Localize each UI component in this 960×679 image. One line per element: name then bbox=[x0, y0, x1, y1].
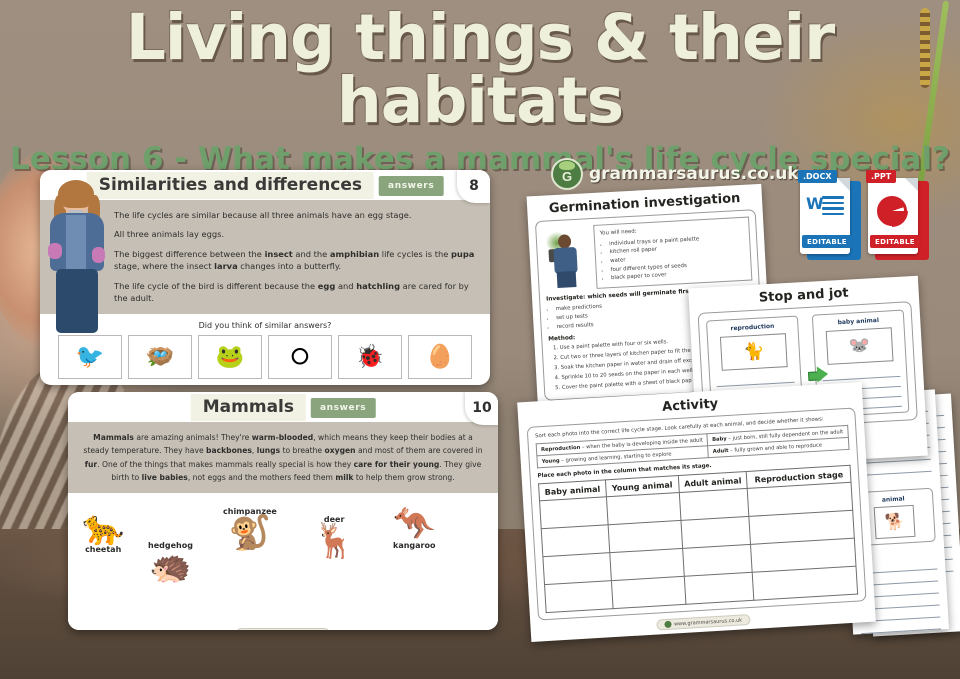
slide8-body-text: The life cycles are similar because all … bbox=[114, 209, 490, 305]
cell[interactable] bbox=[682, 544, 752, 576]
ppt-file-badge[interactable]: .PPT EDITABLE bbox=[866, 172, 929, 260]
ladybird-photo: 🐞 bbox=[338, 335, 402, 379]
bird-photo: 🐦 bbox=[58, 335, 122, 379]
nest-with-eggs-photo: 🪺 bbox=[128, 335, 192, 379]
page-fold-icon bbox=[905, 178, 918, 191]
term: Reproduction bbox=[541, 444, 581, 452]
animal-chimpanzee: chimpanzee 🐒 bbox=[223, 507, 277, 550]
ppt-extension-label: .PPT bbox=[866, 170, 896, 183]
grammarsaurus-badge-icon: G bbox=[551, 158, 583, 190]
cell[interactable] bbox=[611, 576, 685, 608]
slide10-answers-badge[interactable]: answers bbox=[311, 398, 375, 418]
slide8-photo-row: 🐦 🪺 🐸 ⭘ 🐞 🥚 bbox=[40, 335, 490, 379]
slide-mammals[interactable]: 10 Mammals answers Mammals are amazing a… bbox=[68, 392, 498, 630]
cheetah-label: cheetah bbox=[82, 545, 124, 554]
hedgehog-photo: 🦔 bbox=[148, 550, 193, 584]
pie-chart-icon bbox=[877, 196, 907, 226]
cell[interactable] bbox=[540, 497, 608, 529]
brand-dot-icon bbox=[664, 621, 671, 628]
cell[interactable] bbox=[545, 581, 613, 613]
frog-photo: 🐸 bbox=[198, 335, 262, 379]
cell[interactable] bbox=[606, 493, 680, 525]
kangaroo-photo: 🦘 bbox=[393, 507, 435, 541]
cell[interactable] bbox=[610, 548, 684, 580]
cell[interactable] bbox=[684, 572, 754, 604]
resource-preview: Living things & their habitats Lesson 6 … bbox=[0, 0, 960, 679]
slide10-body-text: Mammals are amazing animals! They're war… bbox=[68, 431, 498, 484]
slide8-paragraph: The life cycles are similar because all … bbox=[114, 209, 476, 221]
slide8-content-band: The life cycles are similar because all … bbox=[40, 200, 490, 314]
cell[interactable] bbox=[541, 525, 609, 557]
chimpanzee-photo: 🐒 bbox=[223, 516, 277, 550]
docx-extension-label: .DOCX bbox=[798, 170, 837, 183]
deer-photo: 🦌 bbox=[313, 524, 355, 558]
kangaroo-label: kangaroo bbox=[393, 541, 435, 550]
activity-footer-url: www.grammarsaurus.co.uk bbox=[656, 614, 751, 631]
animal-cheetah: 🐆 cheetah bbox=[82, 511, 124, 554]
slide-similarities-and-differences[interactable]: 8 Similarities and differences answers bbox=[40, 170, 490, 385]
animal-hedgehog: hedgehog 🦔 bbox=[148, 541, 193, 584]
frogspawn-photo: ⭘ bbox=[268, 335, 332, 379]
teacher-illustration bbox=[40, 209, 114, 305]
desc: – growing and learning, starting to expl… bbox=[561, 451, 672, 464]
animal-kangaroo: 🦘 kangaroo bbox=[393, 507, 435, 550]
baby-animal-label: baby animal bbox=[837, 317, 879, 326]
you-will-need-box: You will need: individual trays or a pai… bbox=[593, 217, 752, 289]
animal-photo: 🐕 bbox=[874, 505, 916, 539]
slide8-paragraph: The biggest difference between the insec… bbox=[114, 248, 476, 273]
brand-name: grammarsaurus.co.uk bbox=[589, 164, 799, 184]
gardener-illustration bbox=[542, 225, 589, 289]
slide8-answers-badge[interactable]: answers bbox=[379, 176, 443, 196]
document-lines-icon bbox=[822, 196, 844, 218]
slide10-footer-url: www.grammarsaurus.co.uk bbox=[236, 628, 330, 630]
kittens-photo: 🐭 bbox=[826, 327, 894, 365]
slide8-title: Similarities and differences bbox=[87, 172, 374, 199]
animal-deer: deer 🦌 bbox=[313, 515, 355, 558]
term: Adult bbox=[713, 447, 729, 454]
reproduction-label: reproduction bbox=[730, 323, 774, 332]
desc: – fully grown and able to reproduce bbox=[730, 442, 822, 453]
cell[interactable] bbox=[753, 566, 858, 600]
worksheet-activity[interactable]: Activity Sort each photo into the correc… bbox=[517, 382, 876, 642]
slide10-header: Mammals answers bbox=[68, 392, 498, 422]
page-fold-icon bbox=[837, 178, 850, 191]
sorting-table[interactable]: Baby animal Young animal Adult animal Re… bbox=[538, 465, 858, 613]
need-list: individual trays or a paint palette kitc… bbox=[600, 232, 746, 283]
brand-logo: G grammarsaurus.co.uk bbox=[551, 158, 799, 190]
slide10-content-band: Mammals are amazing animals! They're war… bbox=[68, 422, 498, 493]
slide8-paragraph: All three animals lay eggs. bbox=[114, 228, 476, 240]
docx-editable-label: EDITABLE bbox=[802, 235, 852, 248]
animal-label: animal bbox=[859, 494, 927, 505]
docx-file-badge[interactable]: W .DOCX EDITABLE bbox=[798, 172, 861, 260]
cell[interactable] bbox=[608, 520, 682, 552]
file-format-badges: W .DOCX EDITABLE .PPT EDITABLE bbox=[798, 172, 929, 260]
term: Baby bbox=[712, 436, 727, 443]
header: Living things & their habitats Lesson 6 … bbox=[0, 0, 960, 152]
term: Young bbox=[542, 458, 560, 465]
slide10-animal-gallery: 🐆 cheetah hedgehog 🦔 chimpanzee 🐒 deer 🦌… bbox=[68, 493, 498, 630]
cell[interactable] bbox=[543, 553, 611, 585]
slide10-title: Mammals bbox=[191, 394, 306, 421]
cell[interactable] bbox=[679, 488, 749, 520]
cell[interactable] bbox=[681, 516, 751, 548]
cat-photo: 🐈 bbox=[720, 333, 788, 371]
ladybird-eggs-photo: 🥚 bbox=[408, 335, 472, 379]
slide8-paragraph: The life cycle of the bird is different … bbox=[114, 280, 476, 305]
brand-initial: G bbox=[562, 169, 572, 184]
slide8-page-number: 8 bbox=[457, 170, 490, 203]
cheetah-photo: 🐆 bbox=[82, 511, 124, 545]
page-title: Living things & their habitats bbox=[0, 6, 960, 132]
ppt-editable-label: EDITABLE bbox=[870, 235, 920, 248]
word-w-icon: W bbox=[806, 194, 824, 213]
slide10-page-number: 10 bbox=[465, 392, 498, 425]
